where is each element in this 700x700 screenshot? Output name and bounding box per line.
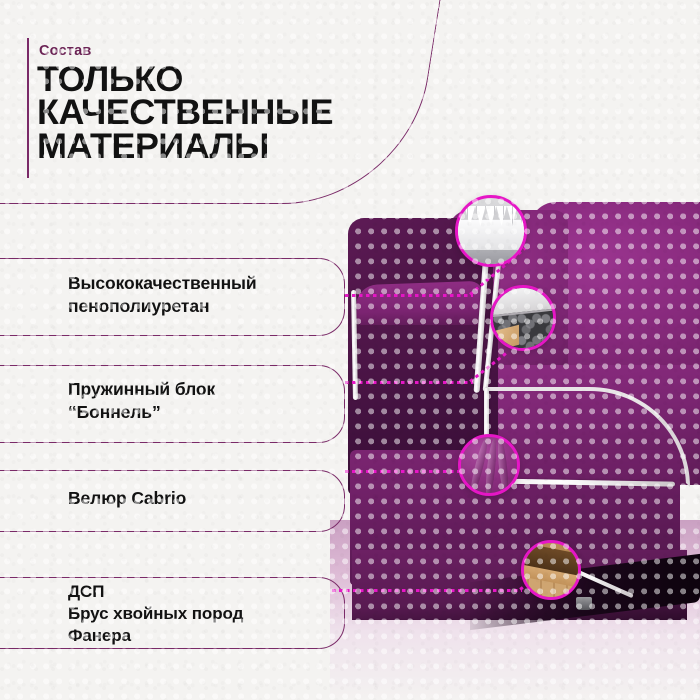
feature-label-foam: Высококачественный пенополиуретан <box>68 272 257 318</box>
connector-line-foam <box>345 294 473 297</box>
spring-block-callout-icon <box>490 285 556 351</box>
feature-label-wood: ДСП Брус хвойных пород Фанера <box>68 581 243 647</box>
connector-line-wood <box>332 589 522 592</box>
page-title: ТОЛЬКО КАЧЕСТВЕННЫЕ МАТЕРИАЛЫ <box>37 63 333 163</box>
connector-line-velour <box>345 470 470 473</box>
feature-label-velour: Велюр Cabrio <box>68 487 186 510</box>
header-accent-bar <box>27 38 29 178</box>
feature-label-spring-block: Пружинный блок “Боннель” <box>68 378 215 424</box>
velour-fabric-callout-icon <box>458 434 520 496</box>
sofa-chrome-leg <box>576 597 592 610</box>
sofa-armrest-top <box>355 281 485 331</box>
velour-fold-3 <box>496 437 510 496</box>
header-eyebrow: Состав <box>39 43 91 59</box>
connector-line-spring-block <box>345 381 473 384</box>
foam-callout-icon <box>455 195 527 267</box>
wood-callout-icon <box>521 540 581 600</box>
